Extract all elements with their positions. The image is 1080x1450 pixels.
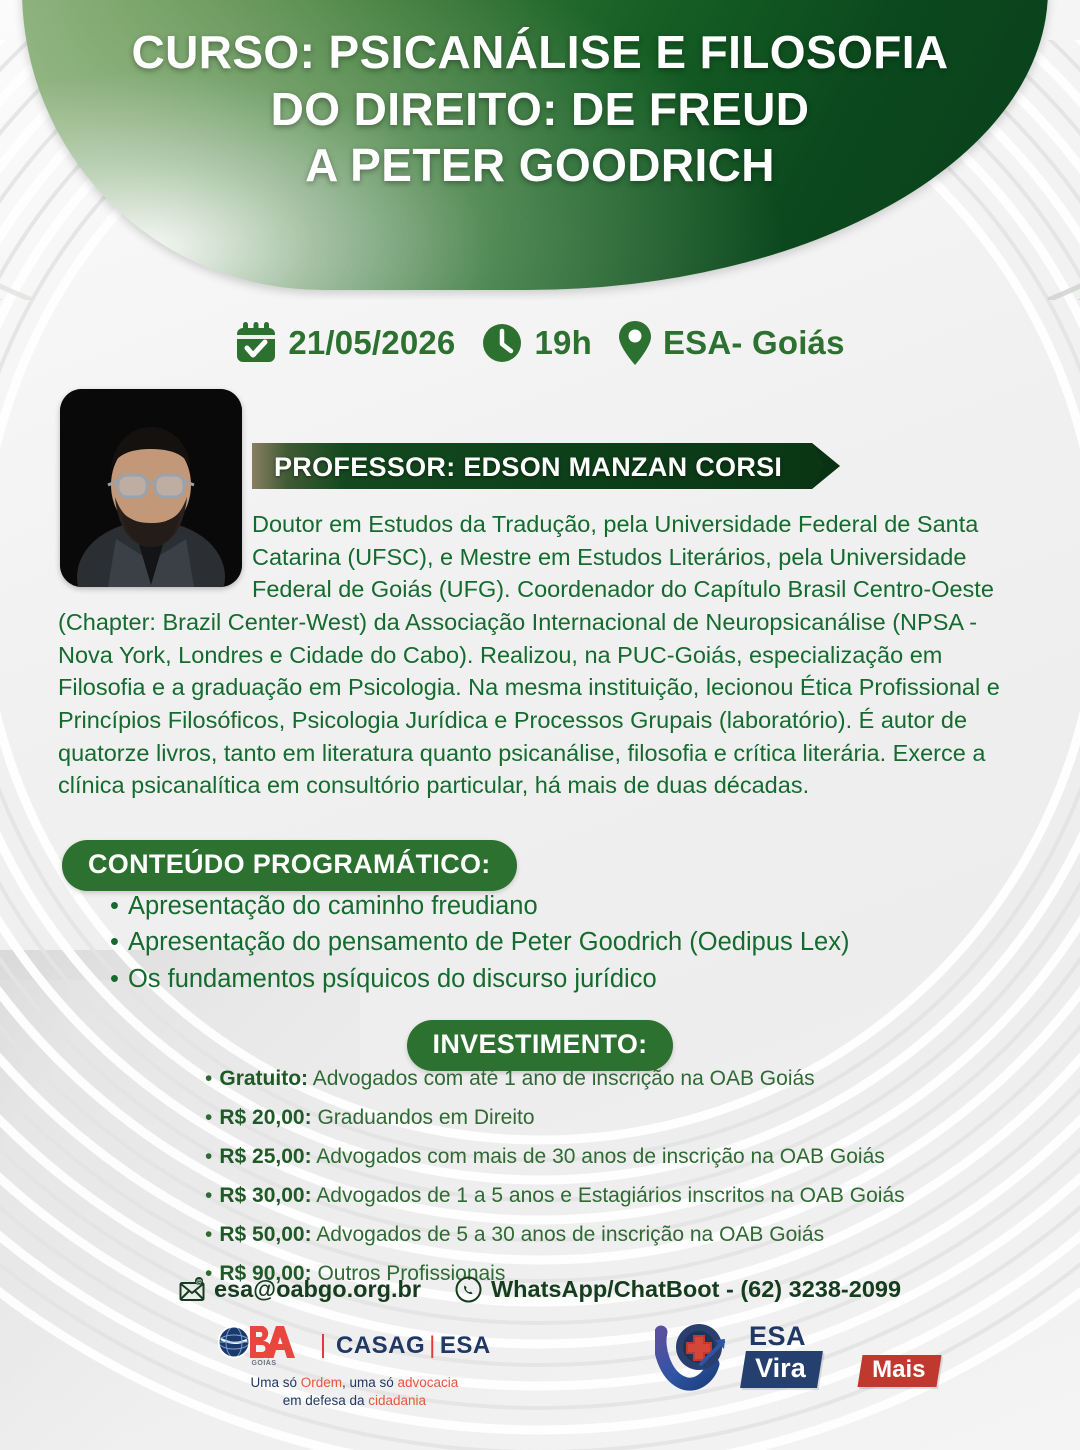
conteudo-section-heading: CONTEÚDO PROGRAMÁTICO: [62, 840, 517, 891]
tagline-part: Uma só [250, 1375, 300, 1390]
event-info-bar: 21/05/2026 19h ESA- Goiás [0, 320, 1080, 366]
oab-partners: CASAG|ESA [336, 1332, 491, 1360]
event-date-text: 21/05/2026 [288, 324, 455, 362]
oab-divider [322, 1334, 324, 1358]
oab-logo-row: GOIÁS CASAG|ESA [218, 1325, 491, 1367]
price-description: Advogados de 5 a 30 anos de inscrição na… [316, 1223, 824, 1246]
list-item: Os fundamentos psíquicos do discurso jur… [110, 961, 849, 997]
partner-separator: | [429, 1332, 436, 1359]
esa-word-vira-text: Vira [755, 1353, 806, 1384]
esa-wordmark: ESA Vira Mais [743, 1324, 939, 1389]
price-label: R$ 25,00: [219, 1145, 311, 1168]
investimento-section-heading: INVESTIMENTO: [0, 1020, 1080, 1071]
investimento-list: Gratuito: Advogados com até 1 ano de ins… [205, 1068, 905, 1302]
esa-word-mais-text: Mais [872, 1356, 925, 1384]
esa-word-top: ESA [749, 1324, 939, 1350]
price-label: R$ 50,00: [219, 1223, 311, 1246]
event-poster: CURSO: PSICANÁLISE E FILOSOFIA DO DIREIT… [0, 0, 1080, 1450]
price-label: Gratuito: [219, 1067, 308, 1090]
event-time: 19h [481, 322, 591, 364]
contact-row: @ esa@oabgo.org.br WhatsApp/ChatBoot - (… [0, 1276, 1080, 1303]
contact-whatsapp-text: WhatsApp/ChatBoot - (62) 3238-2099 [491, 1276, 901, 1303]
partner-casag: CASAG [336, 1332, 425, 1359]
envelope-at-icon: @ [179, 1277, 205, 1303]
conteudo-list: Apresentação do caminho freudiano Aprese… [110, 888, 849, 997]
esa-vira-mais-logo: ESA Vira Mais [655, 1318, 939, 1394]
list-item: R$ 20,00: Graduandos em Direito [205, 1107, 905, 1128]
professor-bio: Doutor em Estudos da Tradução, pela Univ… [58, 508, 1010, 802]
whatsapp-icon [455, 1276, 482, 1303]
tagline-accent: advocacia [398, 1375, 459, 1390]
tagline-accent: cidadania [368, 1393, 426, 1408]
price-label: R$ 20,00: [219, 1106, 311, 1129]
oab-mark: GOIÁS [218, 1325, 310, 1367]
page-title: CURSO: PSICANÁLISE E FILOSOFIA DO DIREIT… [0, 24, 1080, 194]
esa-word-mais: Mais [857, 1355, 941, 1387]
tagline-part: em defesa da [283, 1393, 369, 1408]
price-description: Advogados de 1 a 5 anos e Estagiários in… [316, 1184, 904, 1207]
calendar-check-icon [235, 321, 277, 365]
contact-whatsapp[interactable]: WhatsApp/ChatBoot - (62) 3238-2099 [455, 1276, 901, 1303]
title-line-3: A PETER GOODRICH [0, 137, 1080, 194]
tagline-accent: Ordem [301, 1375, 342, 1390]
event-location-text: ESA- Goiás [663, 324, 845, 362]
price-description: Advogados com mais de 30 anos de inscriç… [316, 1145, 884, 1168]
contact-email-text: esa@oabgo.org.br [214, 1276, 421, 1303]
list-item: R$ 25,00: Advogados com mais de 30 anos … [205, 1146, 905, 1167]
event-date: 21/05/2026 [235, 321, 455, 365]
title-line-1: CURSO: PSICANÁLISE E FILOSOFIA [0, 24, 1080, 81]
esa-vira-mais-logo-icon [655, 1318, 739, 1394]
oab-casag-esa-logo: GOIÁS CASAG|ESA Uma só Ordem, uma só adv… [218, 1325, 491, 1410]
price-label: R$ 30,00: [219, 1184, 311, 1207]
oab-state-label: GOIÁS [251, 1360, 276, 1367]
list-item: R$ 50,00: Advogados de 5 a 30 anos de in… [205, 1224, 905, 1245]
event-time-text: 19h [534, 324, 591, 362]
oab-tagline-line-1: Uma só Ordem, uma só advocacia [218, 1374, 491, 1392]
list-item: R$ 30,00: Advogados de 1 a 5 anos e Esta… [205, 1185, 905, 1206]
oab-tagline: Uma só Ordem, uma só advocacia em defesa… [218, 1374, 491, 1410]
bio-photo-indent [58, 508, 252, 594]
title-line-2: DO DIREITO: DE FREUD [0, 81, 1080, 138]
svg-text:@: @ [196, 1279, 202, 1285]
esa-word-vira: Vira [740, 1351, 822, 1388]
price-description: Advogados com até 1 ano de inscrição na … [313, 1067, 815, 1090]
contact-email[interactable]: @ esa@oabgo.org.br [179, 1276, 421, 1303]
clock-icon [481, 322, 523, 364]
oab-logo-icon [218, 1325, 310, 1359]
list-item: Apresentação do caminho freudiano [110, 888, 849, 924]
investimento-pill-label: INVESTIMENTO: [407, 1020, 674, 1071]
list-item: Gratuito: Advogados com até 1 ano de ins… [205, 1068, 905, 1089]
tagline-part: , uma só [342, 1375, 398, 1390]
list-item: Apresentação do pensamento de Peter Good… [110, 924, 849, 960]
oab-tagline-line-2: em defesa da cidadania [218, 1392, 491, 1410]
conteudo-pill-label: CONTEÚDO PROGRAMÁTICO: [62, 840, 517, 891]
event-location: ESA- Goiás [618, 320, 845, 366]
professor-banner-label: PROFESSOR: EDSON MANZAN CORSI [274, 452, 782, 483]
map-pin-icon [618, 320, 652, 366]
price-description: Graduandos em Direito [317, 1106, 534, 1129]
partner-esa: ESA [440, 1332, 491, 1359]
